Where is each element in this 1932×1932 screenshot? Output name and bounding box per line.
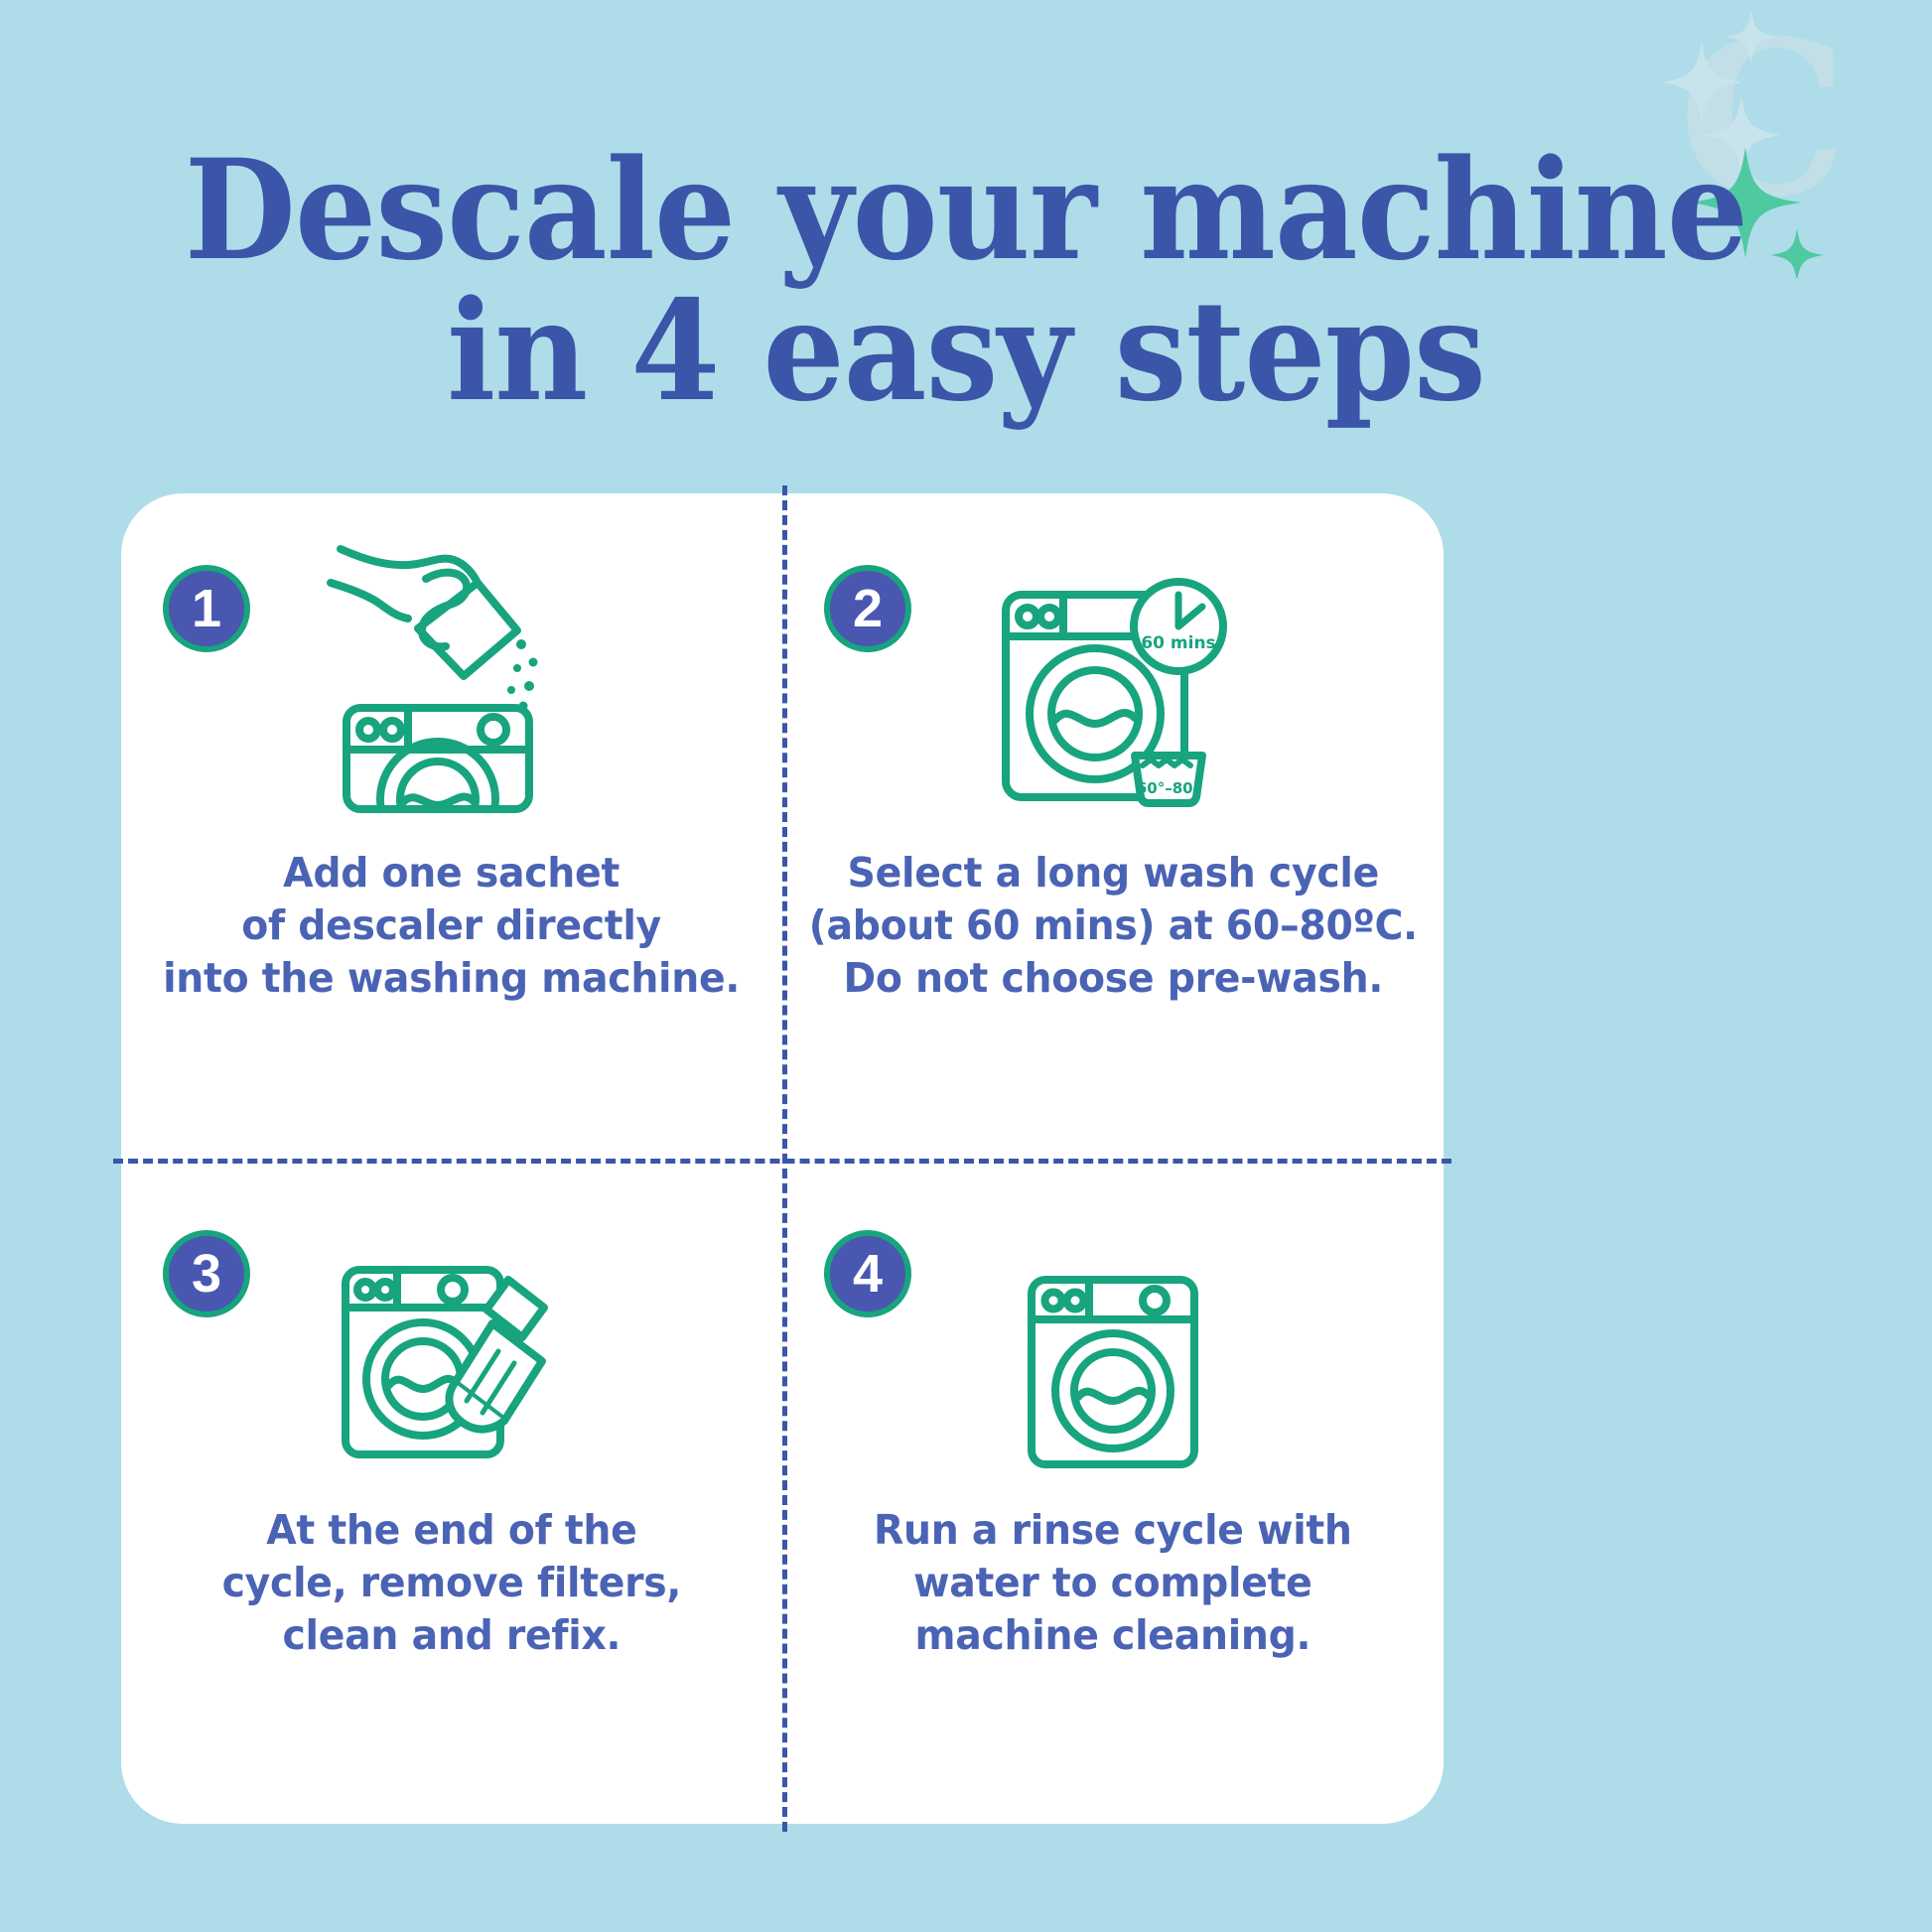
title-line-1: Descale your machine <box>68 139 1864 280</box>
step-2-caption: Select a long wash cycle (about 60 mins)… <box>809 847 1418 1005</box>
step-4-icon-wrap <box>1014 1240 1212 1470</box>
step-4-caption: Run a rinse cycle with water to complete… <box>874 1504 1352 1662</box>
horizontal-dashed-divider <box>113 1159 1451 1164</box>
step-1-icon-wrap <box>323 535 581 813</box>
washing-machine-with-filter-cartridge-icon <box>328 1262 576 1470</box>
title-line-2: in 4 easy steps <box>68 280 1864 421</box>
step-1-caption: Add one sachet of descaler directly into… <box>164 847 741 1005</box>
step-1-number-badge: 1 <box>163 565 250 652</box>
steps-card: 1 <box>121 493 1444 1824</box>
page-title: Descale your machine in 4 easy steps <box>0 139 1932 421</box>
washing-machine-icon <box>1014 1272 1212 1470</box>
step-4-number-badge: 4 <box>824 1230 911 1317</box>
washing-machine-with-timer-and-temperature-icon: 60 mins 60°–80° <box>984 565 1242 813</box>
step-3-icon-wrap <box>328 1240 576 1470</box>
hand-pouring-sachet-into-washing-machine-icon <box>323 535 581 813</box>
timer-label: 60 mins <box>1141 633 1215 653</box>
timer-badge: 60 mins <box>1134 582 1223 671</box>
step-2-number-badge: 2 <box>824 565 911 652</box>
step-3: 3 <box>121 1159 782 1824</box>
step-3-number-badge: 3 <box>163 1230 250 1317</box>
powder-particles <box>507 639 538 711</box>
temperature-badge: 60°–80° <box>1135 756 1202 803</box>
step-4: 4 Run a rinse cycle wit <box>782 1159 1444 1824</box>
step-3-caption: At the end of the cycle, remove filters,… <box>222 1504 681 1662</box>
temperature-label: 60°–80° <box>1137 779 1200 797</box>
step-2: 2 <box>782 493 1444 1159</box>
step-2-icon-wrap: 60 mins 60°–80° <box>984 535 1242 813</box>
step-1: 1 <box>121 493 782 1159</box>
